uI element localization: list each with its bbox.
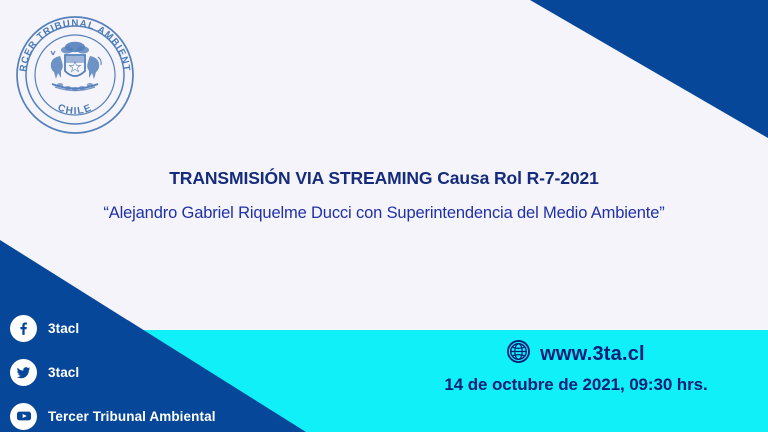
social-item-facebook[interactable]: 3tacl: [10, 310, 270, 346]
twitter-icon[interactable]: [10, 359, 37, 386]
social-item-label: 3tacl: [48, 365, 79, 380]
youtube-icon[interactable]: [10, 403, 37, 430]
globe-icon: [507, 340, 530, 368]
event-datetime: 14 de octubre de 2021, 09:30 hrs.: [384, 375, 768, 395]
social-item-label: Tercer Tribunal Ambiental: [48, 409, 216, 424]
social-links-list: 3tacl 3tacl Tercer Tribunal Ambiental: [10, 310, 270, 432]
social-item-label: 3tacl: [48, 321, 79, 336]
seal-bottom-text: CHILE: [56, 102, 94, 117]
website-and-date-block: www.3ta.cl 14 de octubre de 2021, 09:30 …: [384, 340, 768, 395]
coat-of-arms: [51, 42, 101, 91]
website-row[interactable]: www.3ta.cl: [384, 340, 768, 368]
website-url[interactable]: www.3ta.cl: [540, 343, 645, 366]
social-item-youtube[interactable]: Tercer Tribunal Ambiental: [10, 398, 270, 432]
facebook-icon[interactable]: [10, 315, 37, 342]
tribunal-seal-logo: TERCER TRIBUNAL AMBIENTAL CHILE: [8, 8, 142, 142]
streaming-announcement-slide: TERCER TRIBUNAL AMBIENTAL CHILE: [0, 0, 768, 432]
social-item-twitter[interactable]: 3tacl: [10, 354, 270, 390]
